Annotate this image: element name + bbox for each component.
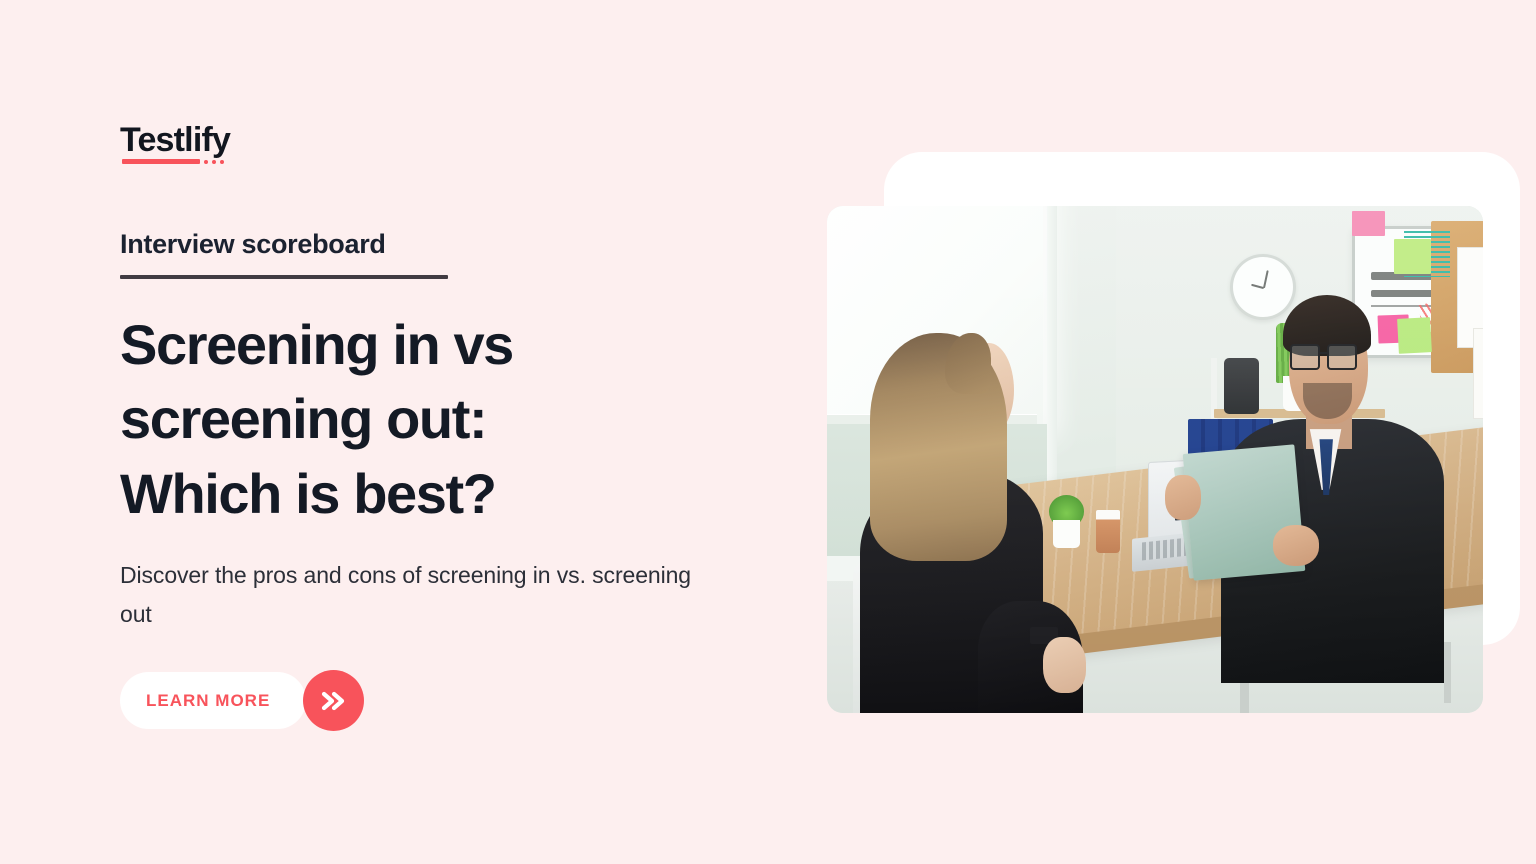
page-title: Screening in vs screening out: Which is …	[120, 308, 720, 531]
eyeglasses-right-lens	[1327, 344, 1357, 369]
logo-dot-3	[220, 160, 224, 164]
headline-line-3: Which is best?	[120, 462, 496, 525]
headline-line-1: Screening in vs	[120, 313, 513, 376]
desk-plant-pot	[1053, 520, 1079, 548]
logo-dot-2	[212, 160, 216, 164]
corkboard-note-pink	[1352, 211, 1385, 236]
eyebrow-label: Interview scoreboard	[120, 228, 448, 260]
logo-underline	[122, 159, 224, 164]
logo-underline-bar	[122, 159, 200, 164]
category-eyebrow: Interview scoreboard	[120, 228, 448, 279]
eyeglasses-left-lens	[1290, 344, 1320, 369]
interviewer-left-hand	[1165, 475, 1201, 521]
interviewer-right-hand	[1273, 525, 1319, 566]
double-chevron-right-icon	[320, 690, 348, 712]
hero-photo	[827, 206, 1483, 713]
smart-speaker	[1224, 358, 1259, 414]
office-interview-scene	[827, 206, 1483, 713]
logo-wordmark: Testlify	[120, 123, 230, 157]
desk-leg-2	[1444, 642, 1452, 703]
eyebrow-rule	[120, 275, 448, 279]
logo-dot-1	[204, 160, 208, 164]
brand-logo[interactable]: Testlify	[120, 123, 230, 157]
hero-left-column: Testlify Interview scoreboard Screening …	[120, 0, 820, 864]
cta-arrow-button[interactable]	[303, 670, 364, 731]
headline-line-2: screening out:	[120, 387, 486, 450]
wall-document-sheet	[1473, 328, 1483, 419]
eyeglasses-bridge	[1319, 352, 1329, 354]
subheadline: Discover the pros and cons of screening …	[120, 556, 710, 633]
wall-clock-icon	[1230, 254, 1296, 320]
learn-more-cta[interactable]: LEARN MORE	[120, 672, 365, 729]
corkboard-note-green-2	[1397, 317, 1432, 354]
corkboard-note-green	[1394, 239, 1430, 274]
candidate-hand	[1043, 637, 1086, 693]
cta-pill[interactable]: LEARN MORE	[120, 672, 306, 729]
coffee-cup	[1096, 510, 1120, 553]
cta-label: LEARN MORE	[146, 691, 270, 711]
